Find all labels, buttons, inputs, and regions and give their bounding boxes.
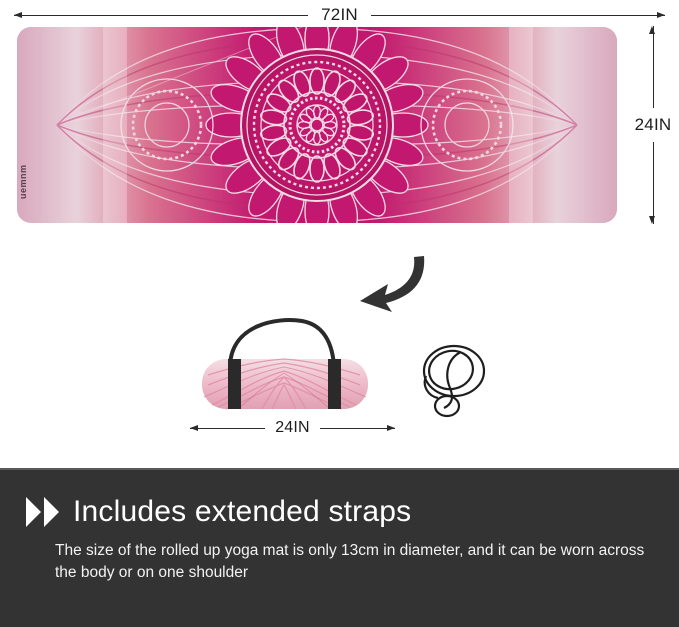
product-infographic: 72IN 24IN [0, 0, 679, 627]
mandala-pattern [17, 27, 617, 223]
dimension-length-label: 72IN [308, 5, 371, 25]
banner-heading-row: Includes extended straps [26, 496, 645, 528]
arrow-line-right [371, 15, 665, 16]
dimension-width-label: 24IN [635, 108, 672, 142]
rolled-yoga-mat-bag [198, 313, 376, 411]
banner-subtitle: The size of the rolled up yoga mat is on… [55, 540, 645, 584]
double-chevron-right-icon [26, 497, 59, 527]
yoga-mat-image: uemnm [17, 27, 617, 223]
feature-banner: Includes extended straps The size of the… [0, 468, 679, 627]
brand-logo: uemnm [18, 164, 28, 199]
arrow-line-right [320, 428, 395, 429]
dimension-mat-length: 72IN [14, 2, 665, 28]
dimension-rolled-label: 24IN [265, 419, 320, 437]
coiled-strap-icon [414, 340, 492, 420]
banner-title: Includes extended straps [73, 496, 411, 528]
curved-arrow-icon [352, 254, 442, 316]
arrow-line-left [190, 428, 265, 429]
dimension-mat-width: 24IN [630, 26, 676, 224]
dimension-rolled-width: 24IN [190, 416, 395, 440]
arrow-line-left [14, 15, 308, 16]
arrow-line-top [653, 26, 654, 108]
arrow-line-bottom [653, 142, 654, 224]
